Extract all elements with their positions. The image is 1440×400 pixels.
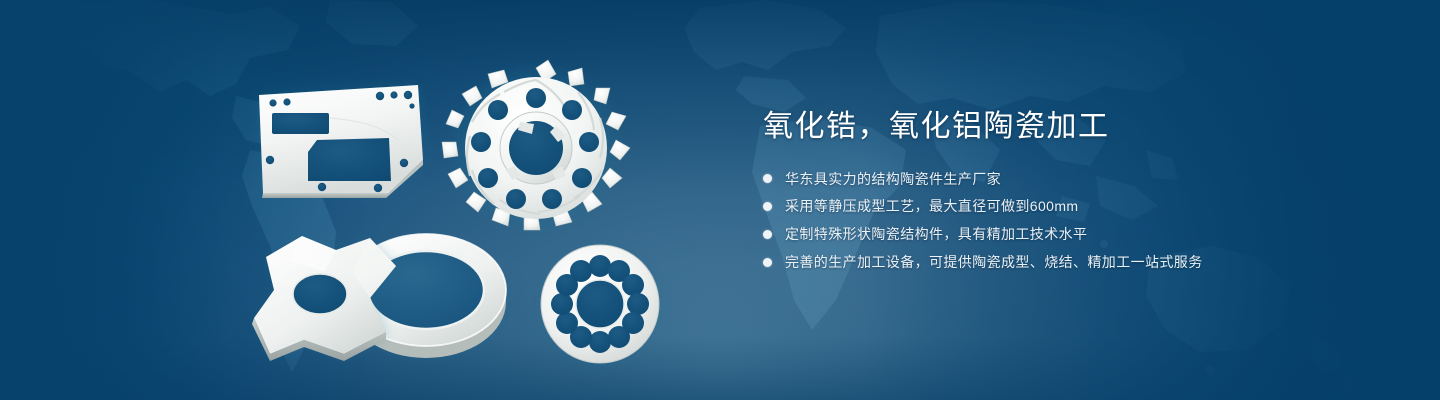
bullet-dot-icon bbox=[763, 258, 772, 267]
ceramic-holed-disc-part bbox=[539, 244, 661, 366]
feature-text: 采用等静压成型工艺，最大直径可做到600mm bbox=[785, 197, 1078, 216]
list-item: 完善的生产加工设备，可提供陶瓷成型、烧结、精加工一站式服务 bbox=[763, 253, 1383, 272]
feature-text: 华东具实力的结构陶瓷件生产厂家 bbox=[785, 170, 1001, 189]
banner-copy: 氧化锆，氧化铝陶瓷加工 华东具实力的结构陶瓷件生产厂家 采用等静压成型工艺，最大… bbox=[763, 108, 1383, 272]
product-banner: 氧化锆，氧化铝陶瓷加工 华东具实力的结构陶瓷件生产厂家 采用等静压成型工艺，最大… bbox=[0, 0, 1440, 400]
feature-text: 完善的生产加工设备，可提供陶瓷成型、烧结、精加工一站式服务 bbox=[785, 253, 1203, 272]
list-item: 定制特殊形状陶瓷结构件，具有精加工技术水平 bbox=[763, 225, 1383, 244]
ceramic-parts-collage bbox=[0, 0, 720, 400]
bullet-dot-icon bbox=[763, 202, 772, 211]
list-item: 采用等静压成型工艺，最大直径可做到600mm bbox=[763, 197, 1383, 216]
ceramic-plate-part bbox=[258, 85, 424, 198]
bullet-dot-icon bbox=[763, 174, 772, 183]
banner-headline: 氧化锆，氧化铝陶瓷加工 bbox=[763, 108, 1383, 146]
bullet-dot-icon bbox=[763, 230, 772, 239]
feature-text: 定制特殊形状陶瓷结构件，具有精加工技术水平 bbox=[785, 225, 1087, 244]
ceramic-impeller-part bbox=[442, 60, 630, 230]
feature-list: 华东具实力的结构陶瓷件生产厂家 采用等静压成型工艺，最大直径可做到600mm 定… bbox=[763, 170, 1383, 273]
list-item: 华东具实力的结构陶瓷件生产厂家 bbox=[763, 170, 1383, 189]
